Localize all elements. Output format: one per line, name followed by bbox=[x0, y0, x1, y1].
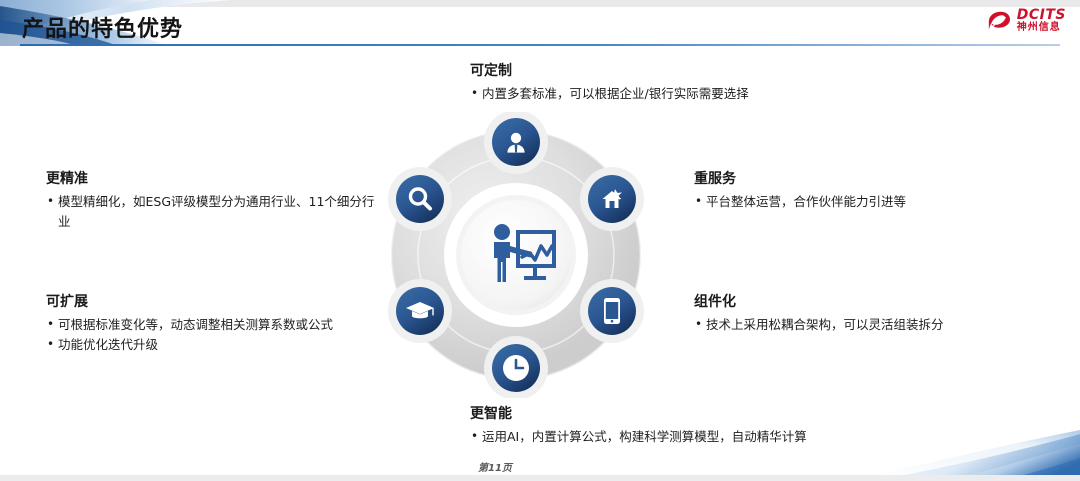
node-bottom-right-mobile bbox=[580, 279, 644, 343]
logo-text-cn: 神州信息 bbox=[1017, 23, 1066, 33]
feature-heading-componentized: 组件化 bbox=[694, 291, 1024, 311]
feature-heading-smart: 更智能 bbox=[470, 403, 970, 423]
feature-heading-service: 重服务 bbox=[694, 168, 1024, 188]
brand-logo: DCITS 神州信息 bbox=[986, 8, 1066, 33]
feature-block-customizable: 可定制 内置多套标准，可以根据企业/银行实际需要选择 bbox=[470, 60, 940, 104]
footer-swoosh-decoration bbox=[870, 430, 1080, 476]
dcits-swirl-logo-icon bbox=[986, 10, 1012, 32]
bullet-item: 功能优化迭代升级 bbox=[46, 335, 376, 355]
page-title: 产品的特色优势 bbox=[22, 11, 183, 43]
bullet-item: 模型精细化，如ESG评级模型分为通用行业、11个细分行业 bbox=[46, 192, 376, 232]
node-top-user bbox=[484, 112, 548, 174]
feature-heading-extensible: 可扩展 bbox=[46, 291, 376, 311]
feature-bullets-extensible: 可根据标准变化等，动态调整相关测算系数或公式 功能优化迭代升级 bbox=[46, 315, 376, 355]
feature-bullets-accurate: 模型精细化，如ESG评级模型分为通用行业、11个细分行业 bbox=[46, 192, 376, 232]
slide-canvas: 产品的特色优势 DCITS 神州信息 bbox=[0, 0, 1080, 481]
node-bottom-left-education bbox=[388, 279, 452, 343]
mobile-phone-icon bbox=[604, 298, 620, 324]
bottom-grey-strip bbox=[0, 475, 1080, 481]
node-left-search bbox=[388, 167, 452, 231]
title-divider-rule bbox=[20, 44, 1060, 46]
feature-heading-customizable: 可定制 bbox=[470, 60, 940, 80]
feature-bullets-componentized: 技术上采用松耦合架构，可以灵活组装拆分 bbox=[694, 315, 1024, 335]
logo-text-en: DCITS bbox=[1017, 8, 1066, 22]
slide-header: 产品的特色优势 DCITS 神州信息 bbox=[0, 0, 1080, 46]
feature-bullets-customizable: 内置多套标准，可以根据企业/银行实际需要选择 bbox=[470, 84, 940, 104]
bullet-item: 平台整体运营，合作伙伴能力引进等 bbox=[694, 192, 1024, 212]
page-number: 第11页 bbox=[478, 459, 512, 474]
clock-icon bbox=[503, 355, 529, 381]
feature-bullets-service: 平台整体运营，合作伙伴能力引进等 bbox=[694, 192, 1024, 212]
feature-block-accurate: 更精准 模型精细化，如ESG评级模型分为通用行业、11个细分行业 bbox=[46, 168, 376, 232]
feature-heading-accurate: 更精准 bbox=[46, 168, 376, 188]
feature-block-componentized: 组件化 技术上采用松耦合架构，可以灵活组装拆分 bbox=[694, 291, 1024, 335]
bullet-item: 内置多套标准，可以根据企业/银行实际需要选择 bbox=[470, 84, 940, 104]
feature-block-extensible: 可扩展 可根据标准变化等，动态调整相关测算系数或公式 功能优化迭代升级 bbox=[46, 291, 376, 355]
node-top-right-home bbox=[580, 167, 644, 231]
feature-ring-diagram bbox=[378, 112, 654, 398]
bullet-item: 可根据标准变化等，动态调整相关测算系数或公式 bbox=[46, 315, 376, 335]
bullet-item: 技术上采用松耦合架构，可以灵活组装拆分 bbox=[694, 315, 1024, 335]
node-bottom-clock bbox=[484, 336, 548, 398]
feature-block-service: 重服务 平台整体运营，合作伙伴能力引进等 bbox=[694, 168, 1024, 212]
